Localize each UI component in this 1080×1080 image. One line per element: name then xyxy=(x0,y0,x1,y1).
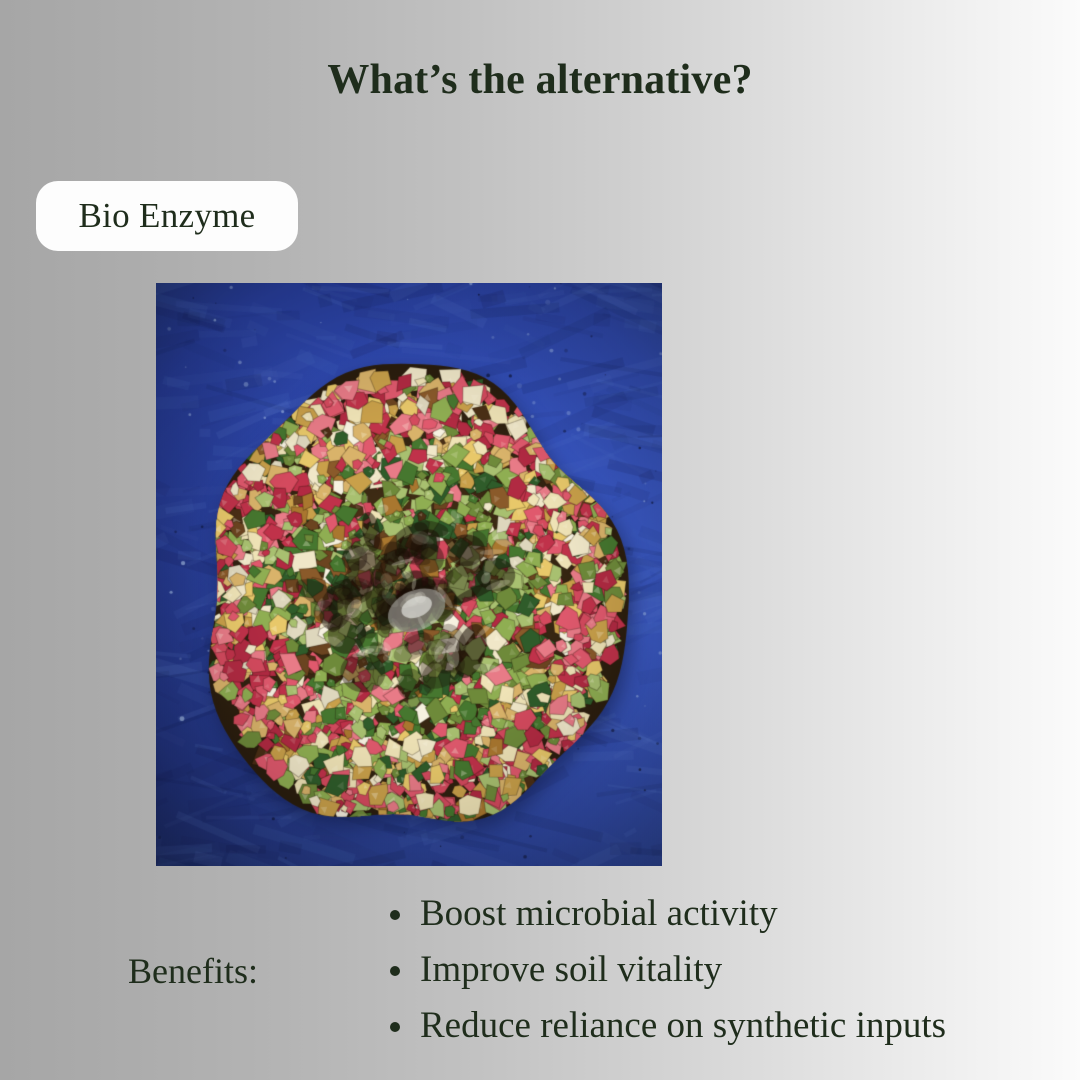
benefits-label: Benefits: xyxy=(128,950,258,992)
bio-enzyme-photo xyxy=(156,283,662,866)
list-item-label: Reduce reliance on synthetic inputs xyxy=(420,1005,946,1046)
bullet-icon xyxy=(390,966,400,976)
list-item-label: Boost microbial activity xyxy=(420,893,778,934)
badge-label: Bio Enzyme xyxy=(79,196,256,236)
bullet-icon xyxy=(390,1022,400,1032)
page-title: What’s the alternative? xyxy=(0,56,1080,104)
bio-enzyme-badge: Bio Enzyme xyxy=(36,181,298,251)
list-item: Boost microbial activity xyxy=(380,892,946,936)
benefits-list: Boost microbial activity Improve soil vi… xyxy=(380,892,946,1048)
list-item-label: Improve soil vitality xyxy=(420,949,722,990)
bucket-of-scraps-image xyxy=(156,283,662,866)
list-item: Reduce reliance on synthetic inputs xyxy=(380,1004,946,1048)
bullet-icon xyxy=(390,910,400,920)
slide-canvas: What’s the alternative? Bio Enzyme Benef… xyxy=(0,0,1080,1080)
list-item: Improve soil vitality xyxy=(380,948,946,992)
